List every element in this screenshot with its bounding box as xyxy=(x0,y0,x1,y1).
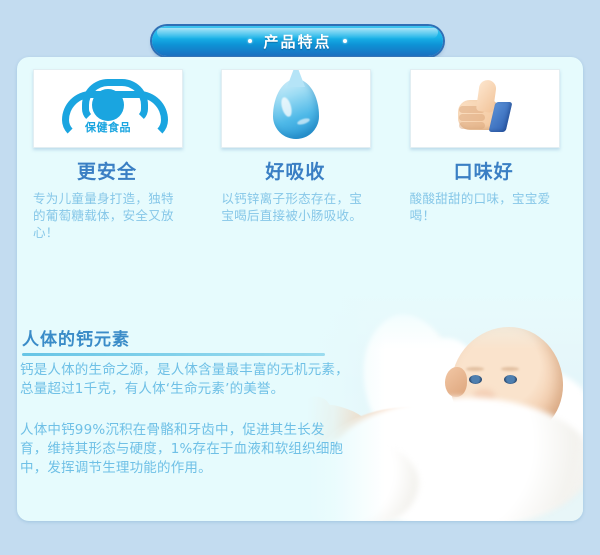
health-food-logo-icon: 保健食品 xyxy=(62,79,154,139)
baby-eyebrow xyxy=(466,367,484,371)
feature-image-box xyxy=(410,69,560,148)
drop-highlight xyxy=(280,96,294,118)
baby-on-fur-photo xyxy=(307,289,583,521)
water-drop-icon xyxy=(273,79,319,139)
thumb-finger-line xyxy=(459,122,485,129)
logo-circle xyxy=(92,89,124,121)
photo-fade-left xyxy=(307,289,385,521)
feature-card-list: 保健食品 更安全 专为儿童量身打造，独特的葡萄糖载体，安全又放心！ 好吸收 以钙… xyxy=(17,69,583,241)
feature-body: 专为儿童量身打造，独特的葡萄糖载体，安全又放心！ xyxy=(33,190,185,241)
calcium-heading-underline xyxy=(22,353,325,356)
baby-eyebrow xyxy=(501,367,519,371)
feature-image-box xyxy=(221,69,371,148)
drop-highlight-small xyxy=(297,117,311,126)
feature-title: 好吸收 xyxy=(221,157,369,184)
feature-image-box: 保健食品 xyxy=(33,69,183,148)
product-features-banner: 产品特点 xyxy=(0,22,600,62)
banner-left-dot-icon xyxy=(248,39,252,43)
feature-card-taste: 口味好 酸酸甜甜的口味，宝宝爱喝！ xyxy=(410,69,583,241)
thumbs-up-icon xyxy=(454,78,516,140)
feature-body: 以钙锌离子形态存在，宝宝喝后直接被小肠吸收。 xyxy=(221,190,373,224)
banner-pill: 产品特点 xyxy=(152,26,443,56)
logo-label: 保健食品 xyxy=(62,119,154,135)
calcium-paragraph: 钙是人体的生命之源，是人体含量最丰富的无机元素，总量超过1千克，有人体‘生命元素… xyxy=(20,361,350,399)
thumb-finger-line xyxy=(459,114,485,121)
content-panel: 保健食品 更安全 专为儿童量身打造，独特的葡萄糖载体，安全又放心！ 好吸收 以钙… xyxy=(17,57,583,521)
feature-card-safer: 保健食品 更安全 专为儿童量身打造，独特的葡萄糖载体，安全又放心！ xyxy=(33,69,206,241)
banner-title: 产品特点 xyxy=(263,31,331,52)
calcium-heading: 人体的钙元素 xyxy=(22,325,130,350)
feature-body: 酸酸甜甜的口味，宝宝爱喝！ xyxy=(410,190,562,224)
banner-right-dot-icon xyxy=(343,39,347,43)
feature-card-absorption: 好吸收 以钙锌离子形态存在，宝宝喝后直接被小肠吸收。 xyxy=(221,69,394,241)
calcium-paragraph: 人体中钙99%沉积在骨骼和牙齿中，促进其生长发育，维持其形态与硬度，1%存在于血… xyxy=(20,421,350,478)
baby-eye xyxy=(504,375,517,384)
calcium-section: 人体的钙元素 钙是人体的生命之源，是人体含量最丰富的无机元素，总量超过1千克，有… xyxy=(17,325,583,521)
feature-title: 口味好 xyxy=(410,157,558,184)
baby-ear xyxy=(445,367,467,397)
baby-eye xyxy=(469,375,482,384)
feature-title: 更安全 xyxy=(33,157,181,184)
